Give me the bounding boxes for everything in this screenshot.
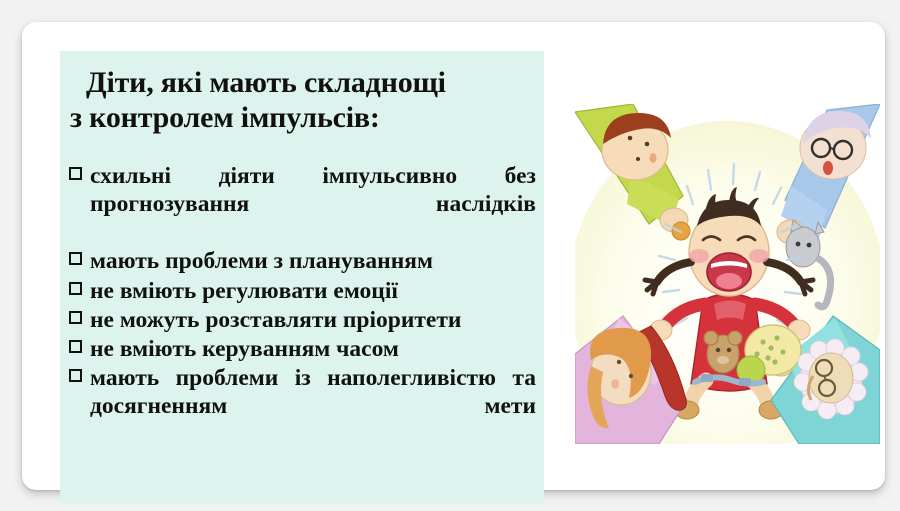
list-item-text: не вміють регулювати емоції <box>90 278 398 304</box>
square-bullet-icon <box>69 369 82 382</box>
illustration-svg <box>575 104 880 444</box>
slide-root: Діти, які мають складнощі з контролем ім… <box>0 0 900 511</box>
list-item-text: схильні діяти імпульсивно без прогнозува… <box>90 163 536 217</box>
list-item-text: мають проблеми із наполегливістю та дося… <box>90 365 536 419</box>
list-item: мають проблеми з плануванням <box>68 247 536 275</box>
bullet-list: схильні діяти імпульсивно без прогнозува… <box>60 136 544 449</box>
illustration-image <box>575 104 880 444</box>
title-line-2: з контролем імпульсів: <box>70 100 534 135</box>
square-bullet-icon <box>69 340 82 353</box>
square-bullet-icon <box>69 167 82 180</box>
square-bullet-icon <box>69 311 82 324</box>
title-line-1: Діти, які мають складнощі <box>70 65 534 100</box>
list-item: не вміють керуванням часом <box>68 335 536 363</box>
list-item-text: не можуть розставляти пріоритети <box>90 307 461 333</box>
list-item-text: мають проблеми з плануванням <box>90 248 433 274</box>
list-item: не вміють регулювати емоції <box>68 277 536 305</box>
square-bullet-icon <box>69 252 82 265</box>
page-title: Діти, які мають складнощі з контролем ім… <box>60 51 544 136</box>
slide-card: Діти, які мають складнощі з контролем ім… <box>22 22 885 490</box>
list-item: не можуть розставляти пріоритети <box>68 306 536 334</box>
list-item: мають проблеми із наполегливістю та дося… <box>68 364 536 449</box>
square-bullet-icon <box>69 282 82 295</box>
text-panel: Діти, які мають складнощі з контролем ім… <box>60 51 544 504</box>
list-item: схильні діяти імпульсивно без прогнозува… <box>68 162 536 247</box>
list-item-text: не вміють керуванням часом <box>90 336 399 362</box>
